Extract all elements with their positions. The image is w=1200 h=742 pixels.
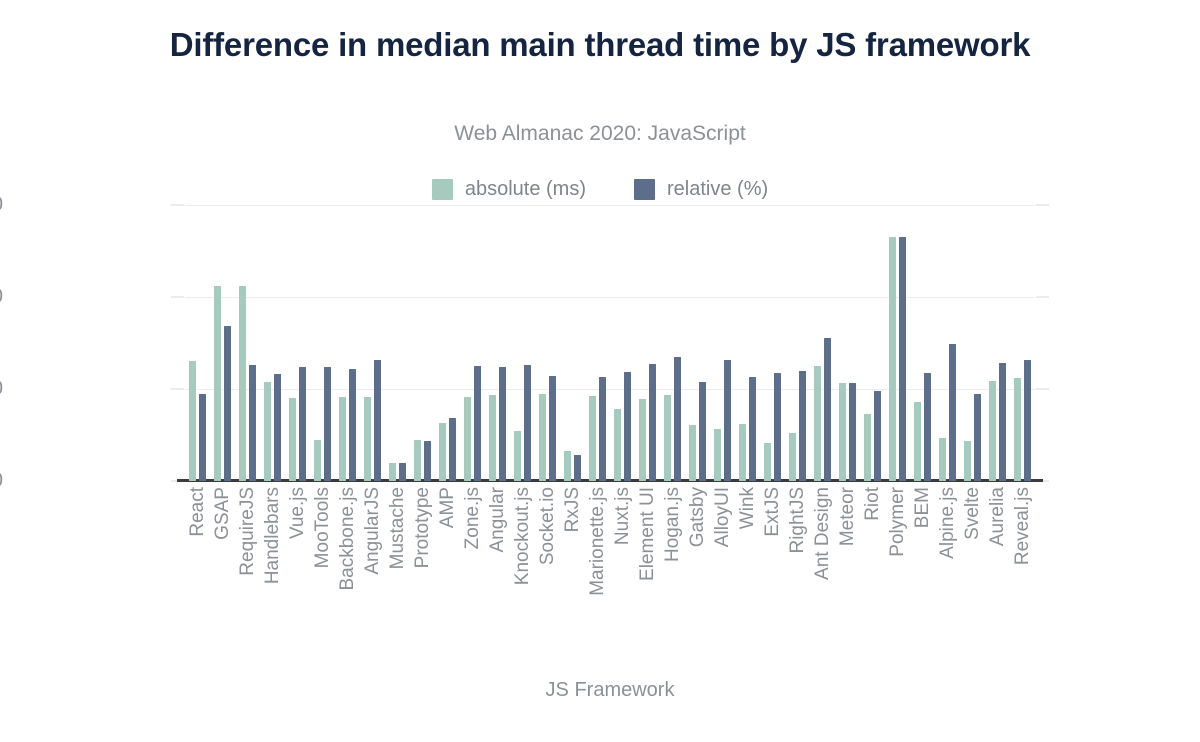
x-axis-category: ExtJS: [760, 487, 785, 657]
bar-relative[interactable]: [999, 363, 1006, 481]
bar-group: [260, 205, 285, 481]
x-axis-category: AlloyUI: [710, 487, 735, 657]
x-axis-category-label: AMP: [437, 487, 459, 528]
bar-absolute[interactable]: [264, 382, 271, 481]
legend-item-absolute[interactable]: absolute (ms): [432, 178, 586, 201]
bar-relative[interactable]: [674, 357, 681, 481]
bar-series-group: [185, 205, 1035, 481]
bar-group: [810, 205, 835, 481]
bar-relative[interactable]: [499, 367, 506, 481]
x-axis-category: Zone.js: [460, 487, 485, 657]
bar-relative[interactable]: [774, 373, 781, 481]
bar-group: [610, 205, 635, 481]
bar-relative[interactable]: [199, 394, 206, 481]
x-axis-category-label: Gatsby: [687, 487, 709, 547]
bar-absolute[interactable]: [564, 451, 571, 481]
y-axis-left-tick-mark: [171, 297, 184, 298]
bar-group: [410, 205, 435, 481]
x-axis-category-label: Wink: [737, 487, 759, 529]
x-axis-category: Hogan.js: [660, 487, 685, 657]
bar-absolute[interactable]: [314, 440, 321, 481]
y-axis-left-tick-mark: [171, 205, 184, 206]
x-axis-category-label: Riot: [862, 487, 884, 521]
x-axis-category-labels: ReactGSAPRequireJSHandlebarsVue.jsMooToo…: [185, 487, 1035, 657]
bar-absolute[interactable]: [414, 440, 421, 481]
bar-group: [485, 205, 510, 481]
chart-legend: absolute (ms) relative (%): [0, 178, 1200, 201]
bar-absolute[interactable]: [664, 395, 671, 481]
x-axis-category-label: ExtJS: [762, 487, 784, 537]
bar-relative[interactable]: [574, 455, 581, 481]
bar-absolute[interactable]: [989, 381, 996, 481]
bar-absolute[interactable]: [214, 286, 221, 481]
legend-swatch-relative: [634, 179, 655, 200]
bar-absolute[interactable]: [689, 425, 696, 481]
x-axis-category: Element UI: [635, 487, 660, 657]
bar-relative[interactable]: [724, 360, 731, 481]
bar-absolute[interactable]: [464, 397, 471, 481]
x-axis-category: Aurelia: [985, 487, 1010, 657]
bar-relative[interactable]: [399, 463, 406, 481]
bar-absolute[interactable]: [889, 237, 896, 481]
x-axis-category-label: Mustache: [387, 487, 409, 569]
bar-group: [635, 205, 660, 481]
x-axis-category: Marionette.js: [585, 487, 610, 657]
bar-absolute[interactable]: [239, 286, 246, 481]
bar-group: [960, 205, 985, 481]
bar-relative[interactable]: [749, 377, 756, 481]
x-axis-category: Backbone.js: [335, 487, 360, 657]
bar-relative[interactable]: [974, 394, 981, 481]
bar-absolute[interactable]: [614, 409, 621, 481]
legend-label-relative: relative (%): [667, 178, 768, 201]
bar-absolute[interactable]: [489, 395, 496, 481]
bar-group: [385, 205, 410, 481]
x-axis-category: Vue.js: [285, 487, 310, 657]
bar-relative[interactable]: [224, 326, 231, 481]
x-axis-category: Meteor: [835, 487, 860, 657]
bar-absolute[interactable]: [764, 443, 771, 481]
bar-absolute[interactable]: [514, 431, 521, 481]
bar-relative[interactable]: [924, 373, 931, 481]
bar-group: [235, 205, 260, 481]
bar-relative[interactable]: [549, 376, 556, 481]
x-axis-category: Polymer: [885, 487, 910, 657]
x-axis-category-label: Meteor: [837, 487, 859, 546]
bar-group: [460, 205, 485, 481]
bar-group: [735, 205, 760, 481]
y-axis-right-tick-mark: [1036, 389, 1049, 390]
bar-group: [660, 205, 685, 481]
bar-relative[interactable]: [949, 344, 956, 481]
bar-relative[interactable]: [649, 364, 656, 481]
legend-swatch-absolute: [432, 179, 453, 200]
bar-relative[interactable]: [799, 371, 806, 481]
bar-group: [210, 205, 235, 481]
chart-title: Difference in median main thread time by…: [120, 24, 1080, 66]
x-axis-category: BEM: [910, 487, 935, 657]
bar-group: [435, 205, 460, 481]
x-axis-category: Handlebars: [260, 487, 285, 657]
chart-container: Difference in median main thread time by…: [0, 0, 1200, 742]
bar-absolute[interactable]: [814, 366, 821, 481]
plot-area: 00%2,000100%4,000200%6,000300% Absolute …: [185, 205, 1035, 481]
bar-relative[interactable]: [374, 360, 381, 481]
x-axis-category-label: Svelte: [962, 487, 984, 540]
bar-relative[interactable]: [874, 391, 881, 481]
x-axis-category-label: Hogan.js: [662, 487, 684, 562]
bar-group: [335, 205, 360, 481]
x-axis-category: Gatsby: [685, 487, 710, 657]
x-axis-category: RequireJS: [235, 487, 260, 657]
bar-absolute[interactable]: [539, 394, 546, 481]
x-axis-category-label: Socket.io: [537, 487, 559, 565]
x-axis-category-label: AngularJS: [362, 487, 384, 575]
bar-group: [360, 205, 385, 481]
x-axis-category-label: Prototype: [412, 487, 434, 568]
x-axis-category-label: Polymer: [887, 487, 909, 557]
bar-group: [185, 205, 210, 481]
bar-absolute[interactable]: [339, 397, 346, 481]
bar-group: [835, 205, 860, 481]
bar-absolute[interactable]: [914, 402, 921, 481]
bar-absolute[interactable]: [589, 396, 596, 481]
bar-relative[interactable]: [699, 382, 706, 481]
x-axis-category: Riot: [860, 487, 885, 657]
x-axis-category-label: BEM: [912, 487, 934, 528]
bar-relative[interactable]: [474, 366, 481, 481]
bar-group: [860, 205, 885, 481]
bar-absolute[interactable]: [364, 397, 371, 481]
legend-item-relative[interactable]: relative (%): [634, 178, 768, 201]
bar-group: [885, 205, 910, 481]
bar-relative[interactable]: [449, 418, 456, 481]
x-axis-category: Wink: [735, 487, 760, 657]
bar-group: [585, 205, 610, 481]
x-axis-category-label: Knockout.js: [512, 487, 534, 585]
x-axis-category-label: RightJS: [787, 487, 809, 554]
bar-group: [935, 205, 960, 481]
bar-absolute[interactable]: [1014, 378, 1021, 481]
x-axis-category-label: Aurelia: [987, 487, 1009, 546]
bar-relative[interactable]: [824, 338, 831, 481]
x-axis-category-label: Alpine.js: [937, 487, 959, 559]
bar-relative[interactable]: [424, 441, 431, 481]
bar-absolute[interactable]: [964, 441, 971, 481]
x-axis-category: Angular: [485, 487, 510, 657]
bar-group: [760, 205, 785, 481]
x-axis-category: Prototype: [410, 487, 435, 657]
bar-absolute[interactable]: [389, 463, 396, 481]
x-axis-category-label: Element UI: [637, 487, 659, 581]
bar-absolute[interactable]: [189, 361, 196, 481]
y-axis-right-tick-mark: [1036, 205, 1049, 206]
bar-group: [910, 205, 935, 481]
bar-group: [1010, 205, 1035, 481]
bar-relative[interactable]: [274, 374, 281, 481]
x-axis-category: Mustache: [385, 487, 410, 657]
x-axis-category: Knockout.js: [510, 487, 535, 657]
x-axis-category-label: RxJS: [562, 487, 584, 532]
x-axis-category: GSAP: [210, 487, 235, 657]
bar-relative[interactable]: [324, 367, 331, 481]
x-axis-category-label: MooTools: [312, 487, 334, 568]
x-axis-title: JS Framework: [546, 679, 675, 702]
x-axis-category: Reveal.js: [1010, 487, 1035, 657]
x-axis-category-label: Handlebars: [262, 487, 284, 584]
bar-group: [785, 205, 810, 481]
bar-relative[interactable]: [524, 365, 531, 481]
x-axis-category: Nuxt.js: [610, 487, 635, 657]
x-axis-category-label: AlloyUI: [712, 487, 734, 547]
bar-relative[interactable]: [249, 365, 256, 481]
bar-relative[interactable]: [299, 367, 306, 481]
bar-relative[interactable]: [899, 237, 906, 481]
y-axis-right-tick-mark: [1036, 297, 1049, 298]
x-axis-category-label: GSAP: [212, 487, 234, 540]
x-axis-category: Alpine.js: [935, 487, 960, 657]
bar-group: [310, 205, 335, 481]
y-axis-left-tick-label: 2,000: [0, 378, 3, 401]
bar-absolute[interactable]: [739, 424, 746, 481]
y-axis-left-tick-mark: [171, 389, 184, 390]
x-axis-category: Svelte: [960, 487, 985, 657]
x-axis-category-label: Backbone.js: [337, 487, 359, 591]
x-axis-category: AngularJS: [360, 487, 385, 657]
bar-group: [685, 205, 710, 481]
x-axis-category: RxJS: [560, 487, 585, 657]
bar-group: [285, 205, 310, 481]
bar-group: [510, 205, 535, 481]
bar-absolute[interactable]: [939, 438, 946, 481]
x-axis-category-label: Ant Design: [812, 487, 834, 580]
bar-group: [710, 205, 735, 481]
bar-absolute[interactable]: [839, 383, 846, 481]
bar-absolute[interactable]: [864, 414, 871, 481]
x-axis-category-label: Reveal.js: [1012, 487, 1034, 565]
x-axis-category-label: RequireJS: [237, 487, 259, 576]
y-axis-left-tick-label: 0: [0, 470, 3, 493]
x-axis-category-label: Nuxt.js: [612, 487, 634, 545]
bar-relative[interactable]: [599, 377, 606, 481]
x-axis-category: RightJS: [785, 487, 810, 657]
bar-absolute[interactable]: [789, 433, 796, 481]
chart-subtitle: Web Almanac 2020: JavaScript: [120, 122, 1080, 146]
bar-absolute[interactable]: [289, 398, 296, 481]
x-axis-category-label: Marionette.js: [587, 487, 609, 596]
y-axis-left-tick-label: 4,000: [0, 286, 3, 309]
y-axis-left-tick-label: 6,000: [0, 194, 3, 217]
bar-relative[interactable]: [849, 383, 856, 481]
bar-absolute[interactable]: [439, 423, 446, 481]
legend-label-absolute: absolute (ms): [465, 178, 586, 201]
bar-group: [560, 205, 585, 481]
x-axis-category: AMP: [435, 487, 460, 657]
x-axis-category: Ant Design: [810, 487, 835, 657]
x-axis-category: React: [185, 487, 210, 657]
bar-group: [985, 205, 1010, 481]
x-axis-category: Socket.io: [535, 487, 560, 657]
x-axis-category-label: Zone.js: [462, 487, 484, 549]
bar-relative[interactable]: [349, 369, 356, 481]
bar-absolute[interactable]: [714, 429, 721, 481]
bar-absolute[interactable]: [639, 399, 646, 481]
bar-group: [535, 205, 560, 481]
x-axis-category-label: Angular: [487, 487, 509, 553]
x-axis-category: MooTools: [310, 487, 335, 657]
x-axis-category-label: Vue.js: [287, 487, 309, 539]
bar-relative[interactable]: [624, 372, 631, 481]
x-axis-category-label: React: [187, 487, 209, 537]
bar-relative[interactable]: [1024, 360, 1031, 481]
